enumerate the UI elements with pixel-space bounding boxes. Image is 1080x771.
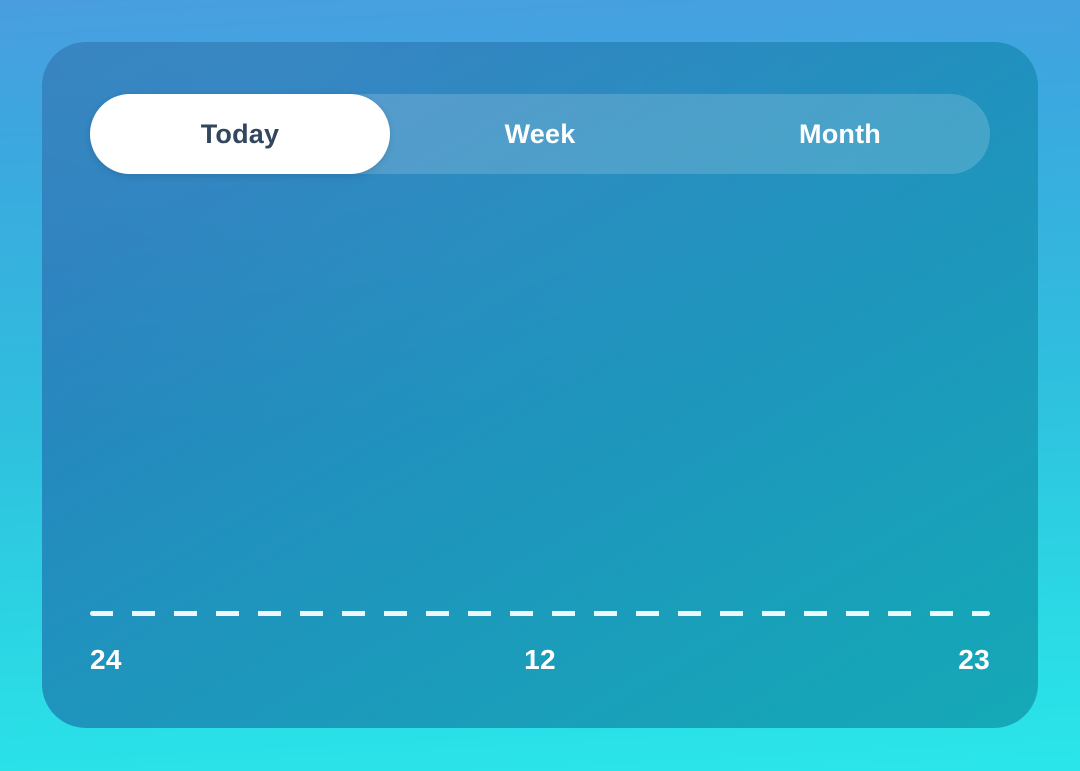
x-axis-label-start: 24	[90, 644, 122, 676]
x-axis-label-middle: 12	[122, 644, 959, 676]
activity-card: Today Week Month 24 12 23	[42, 42, 1038, 728]
chart-x-axis-labels: 24 12 23	[90, 638, 990, 682]
activity-chart[interactable]: 24 12 23	[90, 192, 990, 690]
chart-plot-region	[90, 192, 990, 616]
chart-baseline-dashed	[90, 611, 990, 616]
period-segmented-control[interactable]: Today Week Month	[90, 94, 990, 174]
tab-today[interactable]: Today	[90, 94, 390, 174]
tab-month[interactable]: Month	[690, 94, 990, 174]
x-axis-label-end: 23	[958, 644, 990, 676]
tab-week[interactable]: Week	[390, 94, 690, 174]
